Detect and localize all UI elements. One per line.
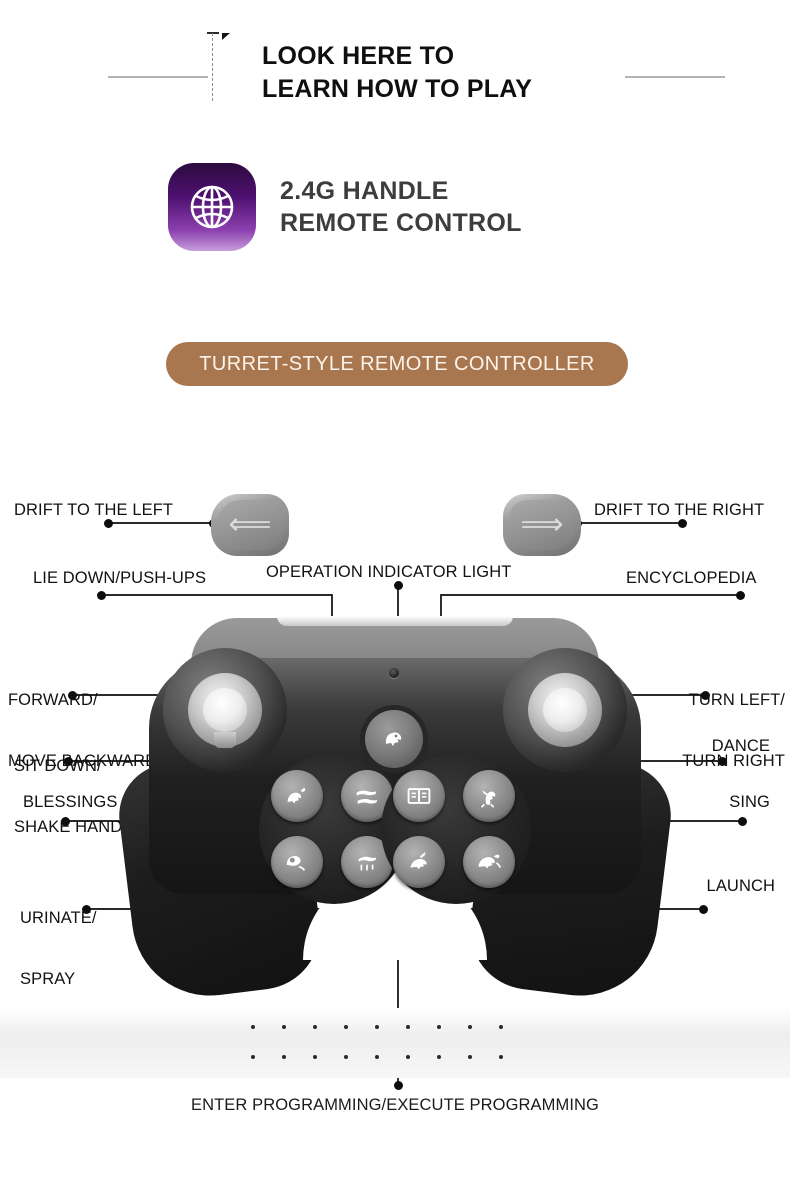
feature-block: 2.4G HANDLE REMOTE CONTROL: [168, 163, 522, 251]
controller-diagram: DRIFT TO THE LEFT DRIFT TO THE RIGHT LIE…: [0, 440, 790, 1181]
label-urinate-spray: URINATE/ SPRAY: [20, 868, 97, 1029]
label-drift-to-the-left: DRIFT TO THE LEFT: [14, 500, 173, 520]
header-flag-icon: [222, 33, 230, 40]
dog-launch-icon: [405, 848, 433, 876]
header-tick-mark: [207, 32, 219, 34]
page-root: LOOK HERE TO LEARN HOW TO PLAY 2.4G HAND…: [0, 0, 790, 1181]
label-enter-programming: ENTER PROGRAMMING/EXECUTE PROGRAMMING: [0, 1096, 790, 1115]
dog-urinate-icon: [353, 848, 381, 876]
page-title-line1: LOOK HERE TO: [262, 40, 692, 73]
button-left-cluster-bottom-left[interactable]: [271, 836, 323, 888]
dog-programming-icon: [379, 724, 409, 754]
button-right-cluster-top-right[interactable]: [463, 770, 515, 822]
feature-line1: 2.4G HANDLE: [280, 175, 522, 207]
globe-icon-badge: [168, 163, 256, 251]
leader-dot-drift-left-outer: [104, 519, 113, 528]
dog-blessing-icon: [283, 848, 311, 876]
dog-sing-icon: [475, 848, 503, 876]
label-urinate-line2: SPRAY: [20, 969, 97, 989]
button-left-cluster-top-left[interactable]: [271, 770, 323, 822]
left-analog-stick-tab: [214, 732, 236, 748]
arrow-left-icon: ⟸: [228, 510, 271, 540]
label-drift-to-the-right: DRIFT TO THE RIGHT: [594, 500, 764, 520]
label-operation-indicator-light: OPERATION INDICATOR LIGHT: [266, 562, 511, 582]
indicator-light: [389, 668, 399, 678]
dog-shake-hands-icon: [283, 782, 311, 810]
leader-dot-drift-right-outer: [678, 519, 687, 528]
shoulder-button-left[interactable]: ⟸: [211, 494, 289, 556]
globe-icon: [187, 182, 237, 232]
button-right-cluster-bottom-right[interactable]: [463, 836, 515, 888]
label-lie-down-push-ups: LIE DOWN/PUSH-UPS: [33, 568, 206, 588]
center-programming-button[interactable]: [365, 710, 423, 768]
floor-reflection: [0, 1008, 790, 1078]
dog-dance-icon: [475, 782, 503, 810]
dog-lie-down-icon: [353, 782, 381, 810]
right-analog-stick[interactable]: [503, 648, 627, 772]
header-rule-left: [108, 76, 208, 78]
right-button-cluster: [381, 754, 531, 904]
leader-dot-programming: [394, 1081, 403, 1090]
button-right-cluster-top-left[interactable]: [393, 770, 445, 822]
shoulder-button-right[interactable]: ⟹: [503, 494, 581, 556]
gamepad: [113, 618, 677, 1018]
leader-dot-lie-down: [97, 591, 106, 600]
feature-text: 2.4G HANDLE REMOTE CONTROL: [280, 175, 522, 239]
leader-dot-encyclopedia: [736, 591, 745, 600]
label-urinate-line1: URINATE/: [20, 908, 97, 928]
leader-dot-indicator: [394, 581, 403, 590]
leader-dot-launch: [699, 905, 708, 914]
button-right-cluster-bottom-left[interactable]: [393, 836, 445, 888]
feature-line2: REMOTE CONTROL: [280, 207, 522, 239]
arrow-right-icon: ⟹: [520, 510, 563, 540]
right-analog-stick-cap: [528, 673, 602, 747]
label-blessings: BLESSINGS: [23, 792, 117, 812]
product-banner: TURRET-STYLE REMOTE CONTROLLER: [166, 342, 628, 386]
book-encyclopedia-icon: [406, 783, 432, 809]
header-dashed-line: [212, 33, 213, 101]
label-encyclopedia: ENCYCLOPEDIA: [626, 568, 757, 588]
leader-dot-sing: [738, 817, 747, 826]
page-title: LOOK HERE TO LEARN HOW TO PLAY: [262, 40, 692, 105]
page-title-line2: LEARN HOW TO PLAY: [262, 73, 692, 106]
left-analog-stick[interactable]: [163, 648, 287, 772]
